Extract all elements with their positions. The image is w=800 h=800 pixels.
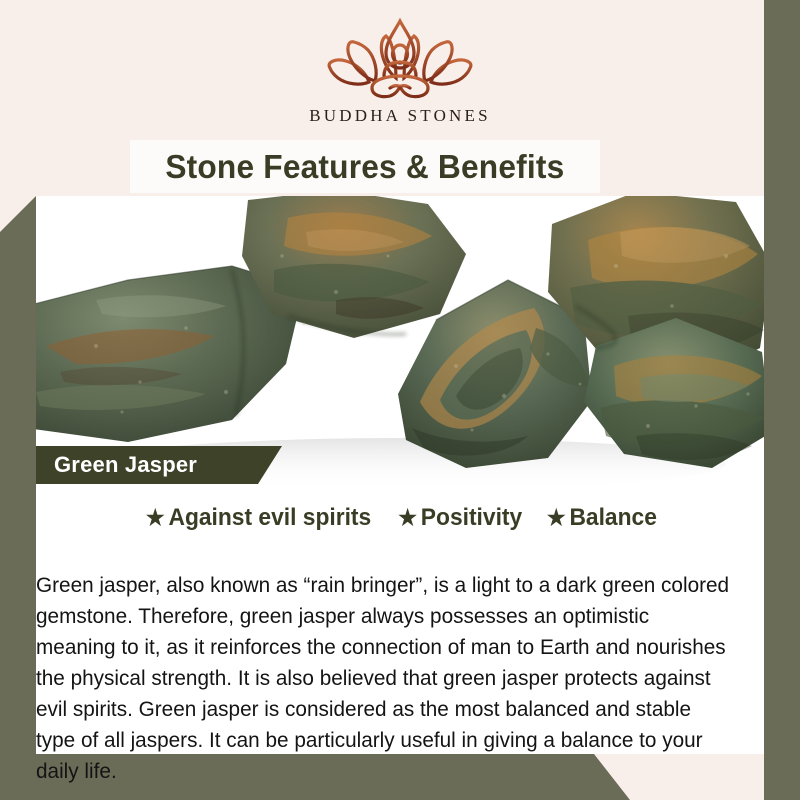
stone-name: Green Jasper	[36, 452, 197, 478]
frame-right-bar	[764, 0, 800, 800]
brand-name: BUDDHA STONES	[36, 106, 764, 126]
feature-item-0: ★Against evil spirits	[146, 504, 371, 532]
star-icon: ★	[547, 505, 566, 530]
stone-description: Green jasper, also known as “rain bringe…	[36, 570, 733, 787]
feature-list: ★Against evil spirits ★Positivity ★Balan…	[36, 504, 764, 532]
title-banner: Stone Features & Benefits	[130, 140, 600, 193]
stone-name-banner: Green Jasper	[36, 446, 282, 484]
frame-left-bar	[0, 0, 36, 800]
feature-item-2: ★Balance	[547, 504, 657, 532]
feature-label: Against evil spirits	[168, 504, 371, 531]
star-icon: ★	[146, 505, 165, 530]
brand-logo: BUDDHA STONES	[36, 16, 764, 126]
star-icon: ★	[399, 505, 418, 530]
page-title: Stone Features & Benefits	[165, 148, 564, 186]
feature-label: Positivity	[421, 504, 522, 531]
poster-root: BUDDHA STONES	[0, 0, 800, 800]
content-card: BUDDHA STONES	[36, 0, 764, 754]
feature-item-1: ★Positivity	[399, 504, 523, 532]
lotus-meditation-icon	[324, 16, 476, 102]
feature-label: Balance	[570, 504, 657, 531]
